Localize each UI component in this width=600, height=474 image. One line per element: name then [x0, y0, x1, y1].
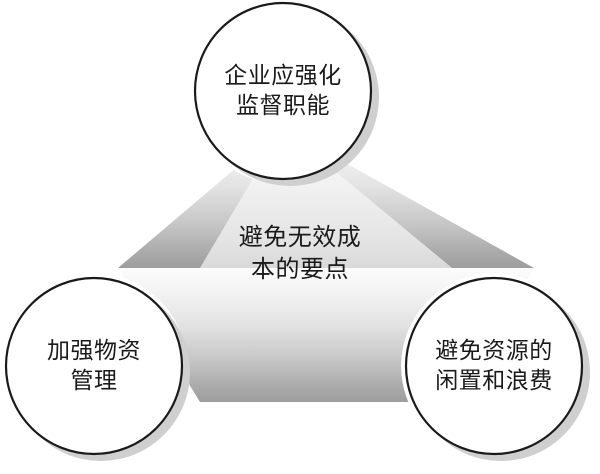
node-top-circle[interactable]: [195, 3, 371, 179]
diagram-canvas: 企业应强化 监督职能 加强物资 管理 避免资源的 闲置和浪费 避免无效成 本的要…: [0, 0, 600, 474]
node-bottom-left-circle[interactable]: [6, 278, 182, 454]
node-bottom-right-circle[interactable]: [406, 278, 582, 454]
diagram-graphics: [0, 0, 600, 474]
